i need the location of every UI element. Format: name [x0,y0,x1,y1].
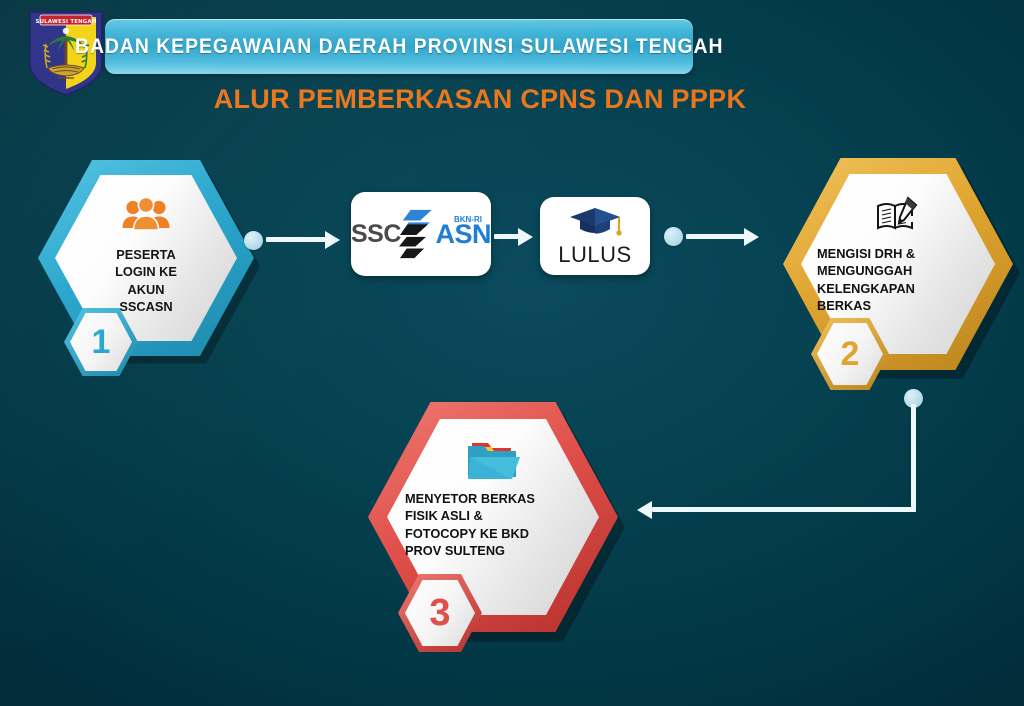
folder-documents-icon [464,437,522,483]
bkn-ri-text: BKN-RI [454,215,482,224]
ssc-text: SSC [351,220,401,249]
step-card-1[interactable]: PESERTA LOGIN KE AKUN SSCASN 1 [38,160,254,356]
infographic-canvas: SULAWESI TENGAH BADAN KEPEGA [0,0,1024,706]
connector-line-1 [266,237,327,242]
connector-dot-1 [244,231,263,250]
graduation-cap-icon [568,205,622,241]
step-badge-2: 2 [811,318,889,390]
book-pencil-icon [874,192,922,238]
connector-dot-3 [664,227,683,246]
group-people-icon [121,193,171,239]
connector-line-4-horizontal [652,507,916,512]
connector-line-4-vertical [911,404,916,512]
page-title: ALUR PEMBERKASAN CPNS DAN PPPK [0,84,960,115]
connector-arrow-1 [325,231,340,249]
step-2-text: MENGISI DRH & MENGUNGGAH KELENGKAPAN BER… [801,245,921,314]
org-banner: BADAN KEPEGAWAIAN DAERAH PROVINSI SULAWE… [105,19,693,74]
connector-line-2 [494,234,520,239]
step-card-3[interactable]: MENYETOR BERKAS FISIK ASLI & FOTOCOPY KE… [368,402,618,632]
connector-line-3 [686,234,746,239]
lulus-box[interactable]: LULUS [540,197,650,275]
connector-arrow-4 [637,501,652,519]
step-3-text: MENYETOR BERKAS FISIK ASLI & FOTOCOPY KE… [387,490,541,559]
step-1-number: 1 [64,308,138,376]
org-name-text: BADAN KEPEGAWAIAN DAERAH PROVINSI SULAWE… [75,34,723,59]
step-3-number: 3 [398,574,482,652]
sscasn-logo-box[interactable]: SSC ASN BKN-RI [351,192,491,276]
connector-arrow-2 [518,228,533,246]
sscasn-chevron-icon [399,205,438,263]
step-2-number: 2 [811,318,889,390]
connector-arrow-3 [744,228,759,246]
step-badge-1: 1 [64,308,138,376]
svg-text:SULAWESI TENGAH: SULAWESI TENGAH [36,19,97,25]
step-1-text: PESERTA LOGIN KE AKUN SSCASN [109,246,183,315]
step-card-2[interactable]: MENGISI DRH & MENGUNGGAH KELENGKAPAN BER… [783,158,1013,370]
step-badge-3: 3 [398,574,482,652]
lulus-label: LULUS [558,242,631,268]
